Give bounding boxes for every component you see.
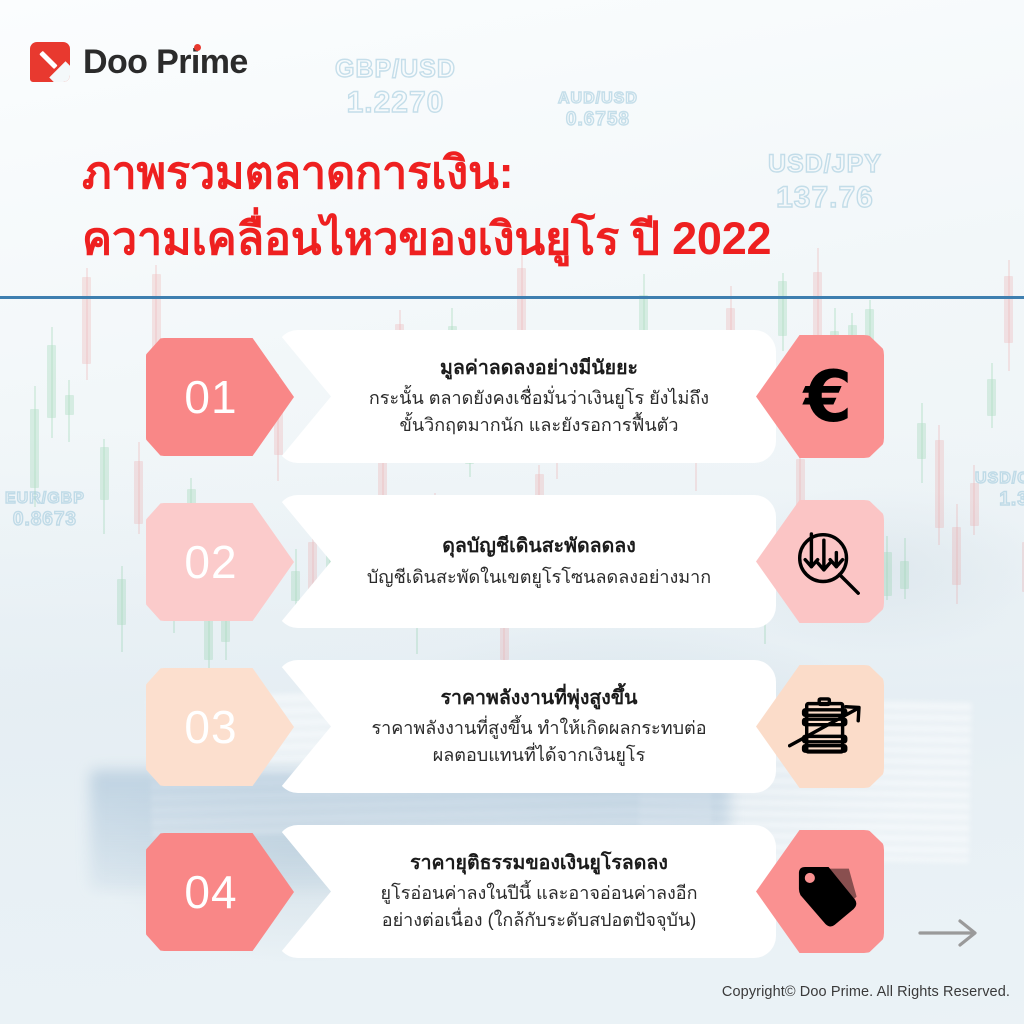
card-number-badge: 01 [146,338,294,456]
card-number-label: 04 [184,865,237,919]
card-row: 03ราคาพลังงานที่พุ่งสูงขึ้นราคาพลังงานที… [0,660,1024,793]
card-row: 04ราคายุติธรรมของเงินยูโรลดลงยูโรอ่อนค่า… [0,825,1024,958]
header: Doo Prime ภาพรวมตลาดการเงิน: ความเคลื่อน… [0,0,1024,298]
card-text-block: ดุลบัญชีเดินสะพัดลดลงบัญชีเดินสะพัดในเขต… [328,532,750,590]
page-title: ภาพรวมตลาดการเงิน: ความเคลื่อนไหวของเงิน… [82,140,962,272]
card-content: ราคายุติธรรมของเงินยูโรลดลงยูโรอ่อนค่าลง… [276,825,776,958]
infographic-poster: GBP/USD1.2270AUD/USD0.6758USD/JPY137.76E… [0,0,1024,1024]
card-title: ราคายุติธรรมของเงินยูโรลดลง [328,849,750,877]
card-title: มูลค่าลดลงอย่างมีนัยยะ [328,354,750,382]
card-number-label: 03 [184,700,237,754]
brand-logo-text: Doo Prime [83,43,248,82]
card-number-label: 02 [184,535,237,589]
arrow-right-icon[interactable] [918,918,982,948]
brand-logo-label: Doo Prime [83,43,248,81]
oil-barrel-rising-arrow-icon [788,688,866,766]
doo-prime-pen-mark-icon [30,42,70,82]
card-body: ยูโรอ่อนค่าลงในปีนี้ และอาจอ่อนค่าลงอีก … [328,880,750,934]
card-row: 01มูลค่าลดลงอย่างมีนัยยะกระนั้น ตลาดยังค… [0,330,1024,463]
brand-logo[interactable]: Doo Prime [30,42,248,82]
euro-sign-icon: € [804,362,853,432]
magnifier-down-arrows-icon [788,523,866,601]
price-tag-icon [788,853,866,931]
card-body: ราคาพลังงานที่สูงขึ้น ทำให้เกิดผลกระทบต่… [328,715,750,769]
card-body: บัญชีเดินสะพัดในเขตยูโรโซนลดลงอย่างมาก [328,564,750,591]
copyright-text: Copyright© Doo Prime. All Rights Reserve… [722,984,1010,1000]
card-number-label: 01 [184,370,237,424]
card-number-badge: 03 [146,668,294,786]
card-number-badge: 04 [146,833,294,951]
card-text-block: มูลค่าลดลงอย่างมีนัยยะกระนั้น ตลาดยังคงเ… [328,354,750,439]
logo-dot-icon [194,44,201,51]
card-title: ดุลบัญชีเดินสะพัดลดลง [328,532,750,560]
header-divider [0,296,1024,299]
card-content: มูลค่าลดลงอย่างมีนัยยะกระนั้น ตลาดยังคงเ… [276,330,776,463]
card-body: กระนั้น ตลาดยังคงเชื่อมั่นว่าเงินยูโร ยั… [328,385,750,439]
card-text-block: ราคายุติธรรมของเงินยูโรลดลงยูโรอ่อนค่าลง… [328,849,750,934]
card-title: ราคาพลังงานที่พุ่งสูงขึ้น [328,684,750,712]
card-row: 02ดุลบัญชีเดินสะพัดลดลงบัญชีเดินสะพัดในเ… [0,495,1024,628]
card-content: ราคาพลังงานที่พุ่งสูงขึ้นราคาพลังงานที่ส… [276,660,776,793]
card-text-block: ราคาพลังงานที่พุ่งสูงขึ้นราคาพลังงานที่ส… [328,684,750,769]
card-content: ดุลบัญชีเดินสะพัดลดลงบัญชีเดินสะพัดในเขต… [276,495,776,628]
card-number-badge: 02 [146,503,294,621]
card-list: 01มูลค่าลดลงอย่างมีนัยยะกระนั้น ตลาดยังค… [0,330,1024,990]
